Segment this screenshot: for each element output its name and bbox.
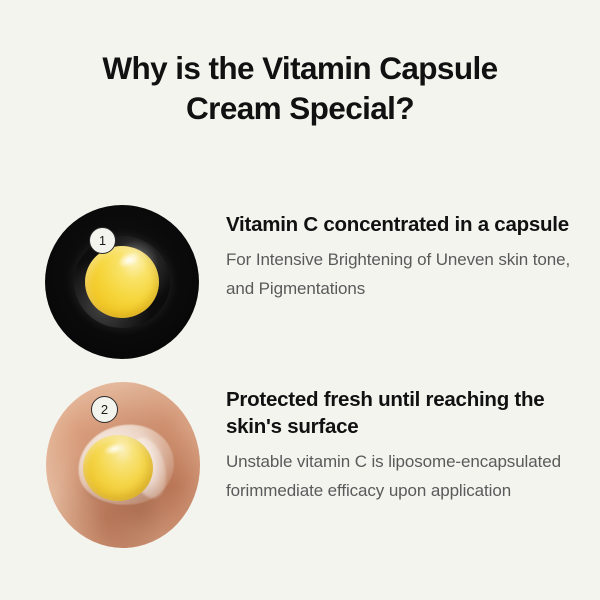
feature-2-copy: Protected fresh until reaching the skin'… bbox=[226, 386, 576, 505]
skin-capsule-photo bbox=[46, 382, 200, 548]
black-capsule-photo bbox=[45, 205, 199, 359]
page-title-line-1: Why is the Vitamin Capsule bbox=[30, 48, 570, 88]
step-badge-1: 1 bbox=[89, 227, 116, 254]
feature-1-copy: Vitamin C concentrated in a capsule For … bbox=[226, 211, 576, 303]
yellow-capsule-icon-2 bbox=[83, 435, 153, 501]
page-title: Why is the Vitamin Capsule Cream Special… bbox=[30, 48, 570, 128]
step-badge-2-label: 2 bbox=[101, 403, 108, 416]
feature-1-body: For Intensive Brightening of Uneven skin… bbox=[226, 245, 576, 303]
promo-page: Why is the Vitamin Capsule Cream Special… bbox=[0, 0, 600, 600]
capsule-ring-highlight bbox=[74, 236, 170, 328]
capsule-gloss-highlight-2 bbox=[102, 440, 126, 457]
step-badge-2: 2 bbox=[91, 396, 118, 423]
capsule-gloss-highlight bbox=[116, 249, 144, 272]
yellow-capsule-icon bbox=[85, 246, 159, 318]
feature-2-body: Unstable vitamin C is liposome-encapsula… bbox=[226, 447, 576, 505]
step-badge-1-label: 1 bbox=[99, 234, 106, 247]
feature-2-media: 2 bbox=[46, 382, 200, 548]
feature-1-media: 1 bbox=[45, 205, 199, 359]
feature-1-heading: Vitamin C concentrated in a capsule bbox=[226, 211, 576, 238]
feature-2-heading: Protected fresh until reaching the skin'… bbox=[226, 386, 576, 440]
page-title-line-2: Cream Special? bbox=[30, 88, 570, 128]
